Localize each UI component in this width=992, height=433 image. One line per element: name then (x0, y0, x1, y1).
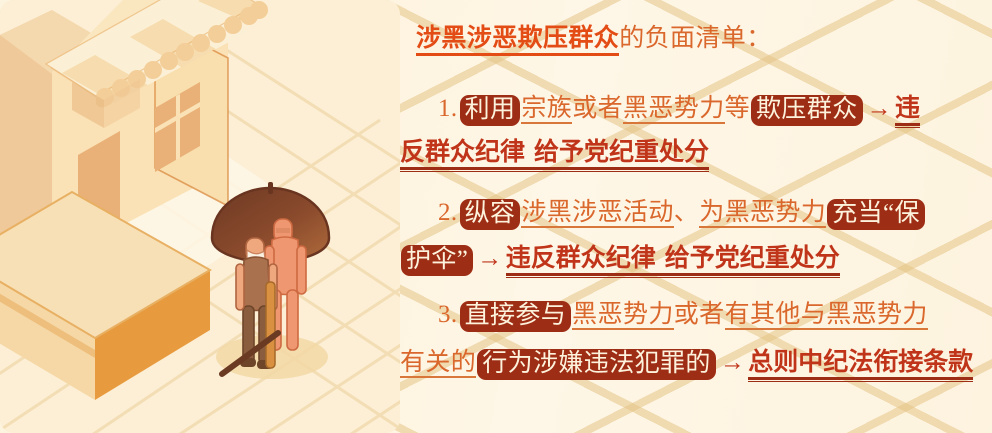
chip-zongrong: 纵容 (460, 199, 521, 230)
bold-result-3: 总则中纪法衔接条款 (748, 350, 973, 382)
list-item-3-line-1: 3.直接参与黑恶势力或者有其他与黑恶势力 (438, 300, 928, 331)
underline-zongzu: 宗族 (521, 96, 572, 124)
bold-result-1: 反群众纪律给予党纪重处分 (400, 140, 709, 172)
list-item-3-line-2: 有关的行为涉嫌违法犯罪的→总则中纪法衔接条款 (400, 348, 973, 382)
chip-qiyaqunzhong: 欺压群众 (751, 95, 863, 126)
list-item-1-line-1: 1.利用宗族或者黑恶势力等欺压群众→违 (438, 94, 920, 128)
text-panel: 涉黑涉恶欺压群众的负面清单： 1.利用宗族或者黑恶势力等欺压群众→违 反群众纪律… (392, 0, 992, 433)
bold-result-2-a: 违反群众纪律 (506, 245, 656, 272)
bold-wei: 违 (895, 96, 920, 128)
underline-heieshili-2: 黑恶势力 (572, 302, 674, 330)
chip-weifa-fanzui: 行为涉嫌违法犯罪的 (477, 349, 716, 380)
item-2-number: 2. (438, 199, 459, 226)
bold-result-1-a: 反群众纪律 (400, 139, 525, 166)
isometric-street-illustration (0, 0, 400, 433)
underline-shehei-huodong: 涉黑涉恶活动 (521, 200, 673, 228)
walking-cane (266, 282, 275, 368)
arrow-icon-3: → (717, 349, 748, 376)
bold-result-1-b: 给予党纪重处分 (534, 139, 709, 166)
item-1-number: 1. (438, 95, 459, 122)
list-item-2-line-1: 2.纵容涉黑涉恶活动、为黑恶势力充当“保 (438, 198, 926, 229)
bold-result-2: 违反群众纪律给予党纪重处分 (506, 246, 840, 278)
title-rest: 的负面清单： (619, 25, 771, 52)
text-huozhe-2: 或者 (674, 301, 725, 328)
arrow-icon: → (864, 95, 895, 122)
list-item-1-line-2: 反群众纪律给予党纪重处分 (400, 140, 709, 172)
poster-canvas: 涉黑涉恶欺压群众的负面清单： 1.利用宗族或者黑恶势力等欺压群众→违 反群众纪律… (0, 0, 992, 433)
text-deng: 等 (725, 95, 750, 122)
underline-heieshili: 黑恶势力 (623, 96, 725, 124)
bold-result-2-b: 给予党纪重处分 (665, 245, 840, 272)
text-dunhao: 、 (674, 199, 699, 226)
chip-chongdang-bao: 充当“保 (827, 199, 925, 230)
chip-husan: 护伞” (401, 245, 473, 276)
list-item-2-line-2: 护伞”→违反群众纪律给予党纪重处分 (400, 244, 840, 278)
title-emphasis: 涉黑涉恶欺压群众 (416, 26, 619, 56)
underline-youqita: 有其他与黑恶势力 (725, 302, 928, 330)
chip-zhijie-canyu: 直接参与 (460, 301, 572, 332)
arrow-icon-2: → (474, 245, 505, 272)
underline-youguande: 有关的 (400, 350, 476, 378)
chip-liyong: 利用 (460, 95, 521, 126)
page-title: 涉黑涉恶欺压群众的负面清单： (416, 26, 772, 56)
item-3-number: 3. (438, 301, 459, 328)
underline-wei-heieshili: 为黑恶势力 (699, 200, 826, 228)
parasol-finial (268, 182, 273, 194)
text-huozhe: 或者 (572, 95, 623, 122)
